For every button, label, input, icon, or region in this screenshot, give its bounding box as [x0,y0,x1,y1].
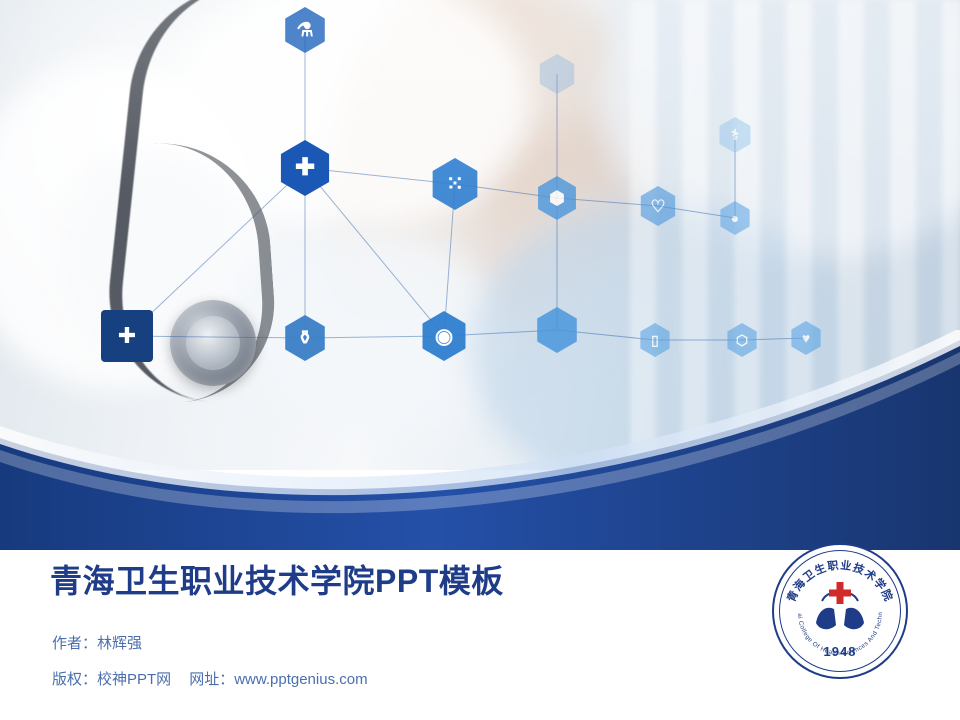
pills-icon-glyph: ⁙ [446,173,464,195]
seal-year: 1948 [772,644,908,659]
copyright-line: 版权：校神PPT网网址：www.pptgenius.com [52,668,368,689]
heart-monitor-icon-glyph: ♡ [650,198,665,215]
school-seal-logo: 青海卫生职业技术学院 Qinghai College Of Health Sci… [772,543,908,679]
presentation-slide: ⚗✚⚕⁙⬢♡●✚⚱◉▯⬡♥ 青海卫生职业技术学院PPT模板 作者：林辉 [0,0,960,720]
dna-icon-glyph: ⚕ [731,128,739,143]
cross-medical-icon-glyph: ✚ [295,156,315,180]
copyright-text: 版权：校神PPT网 [52,671,171,688]
blue-curve-band [0,330,960,550]
author-line: 作者：林辉强 [52,632,142,653]
capsule-icon-glyph: ● [731,211,739,225]
website-url: 网址：www.pptgenius.com [189,671,367,688]
shield-icon-glyph: ⬢ [549,189,565,207]
microscope-icon-glyph: ⚗ [296,21,313,40]
page-title: 青海卫生职业技术学院PPT模板 [50,556,504,602]
